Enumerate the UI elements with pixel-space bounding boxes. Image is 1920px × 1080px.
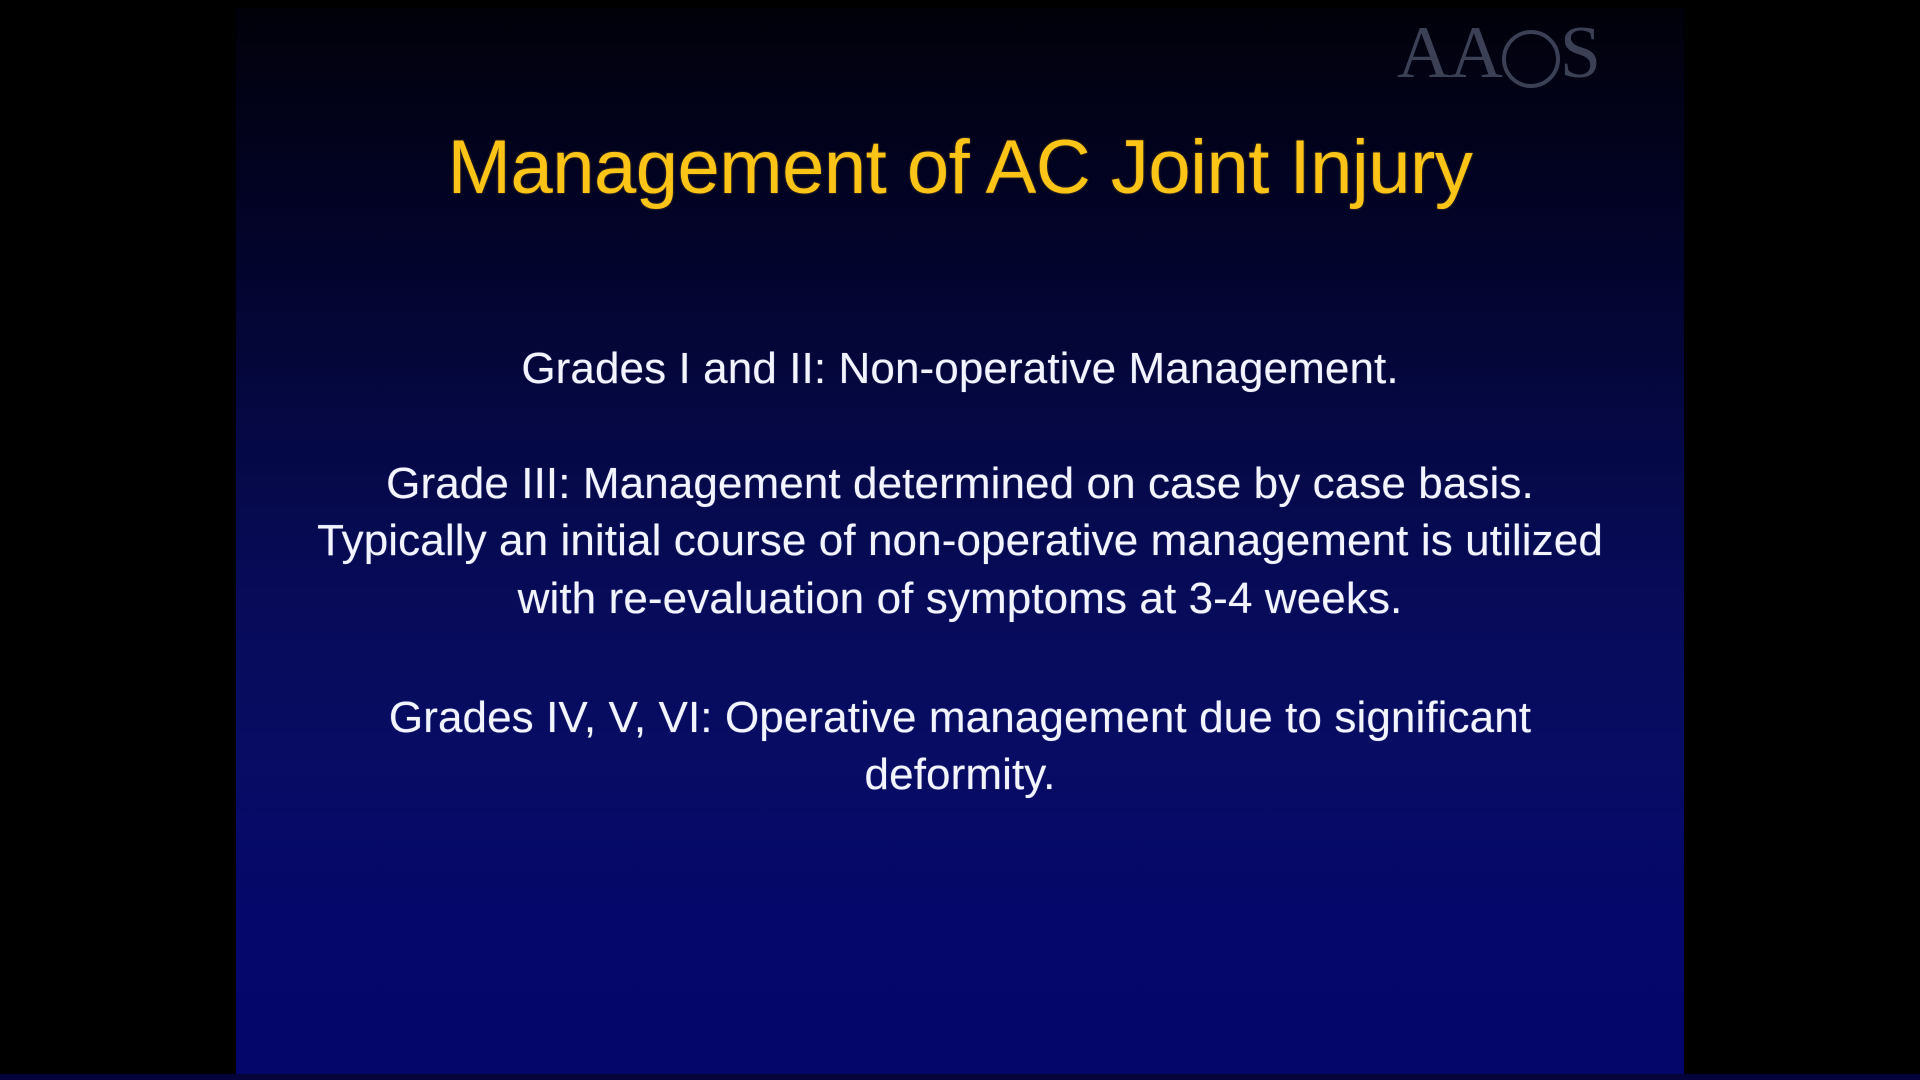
body-line: Grades IV, V, VI: Operative management d…	[236, 689, 1684, 746]
slide-screen: AA S Management of AC Joint Injury Grade…	[0, 0, 1920, 1080]
presentation-slide: AA S Management of AC Joint Injury Grade…	[236, 0, 1684, 1080]
letterbox-right	[1684, 0, 1920, 1080]
aaos-logo-watermark: AA S	[1397, 16, 1600, 90]
paragraph-grades-1-2: Grades I and II: Non-operative Managemen…	[236, 340, 1684, 397]
paragraph-spacer	[236, 627, 1684, 689]
aaos-logo-text-left: AA	[1397, 16, 1502, 90]
body-line: Grades I and II: Non-operative Managemen…	[236, 340, 1684, 397]
aaos-swirl-icon	[1499, 27, 1563, 91]
letterbox-left	[0, 0, 236, 1080]
body-line: deformity.	[236, 746, 1684, 803]
paragraph-spacer	[236, 397, 1684, 455]
letterbox-bottom	[0, 1074, 1920, 1080]
aaos-logo-text-right: S	[1560, 16, 1600, 90]
slide-body: Grades I and II: Non-operative Managemen…	[236, 340, 1684, 803]
body-line: with re-evaluation of symptoms at 3-4 we…	[236, 570, 1684, 627]
paragraph-grade-3: Grade III: Management determined on case…	[236, 455, 1684, 627]
body-line: Grade III: Management determined on case…	[236, 455, 1684, 512]
letterbox-top	[0, 0, 1920, 8]
body-line: Typically an initial course of non-opera…	[236, 512, 1684, 569]
slide-title: Management of AC Joint Injury	[236, 128, 1684, 208]
paragraph-grades-4-5-6: Grades IV, V, VI: Operative management d…	[236, 689, 1684, 803]
